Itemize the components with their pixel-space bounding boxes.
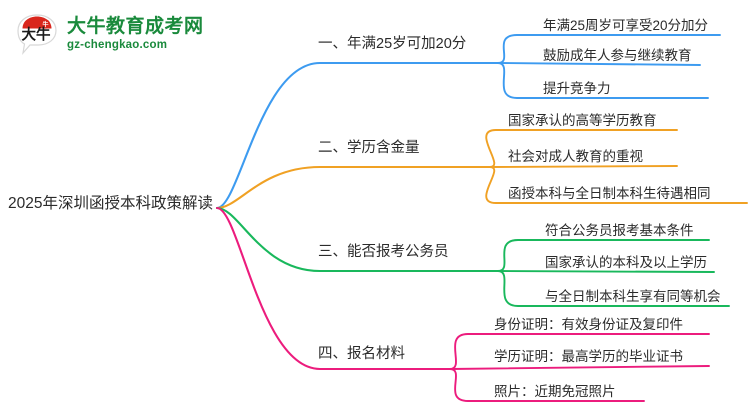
- logo-mark-icon: 牛 大牛: [14, 12, 60, 56]
- branch-node-label: 四、报名材料: [318, 345, 405, 363]
- logo-wordmark: 大牛教育成考网 gz-chengkao.com: [67, 17, 204, 51]
- branch-node-label: 三、能否报考公务员: [318, 243, 449, 261]
- connector-path: [490, 166, 677, 167]
- logo-bubble-icon: 牛 大牛: [14, 12, 60, 56]
- connector-path: [217, 208, 498, 271]
- leaf-node-label: 年满25周岁可享受20分加分: [543, 17, 708, 34]
- connector-path: [450, 366, 709, 369]
- site-logo: 牛 大牛 大牛教育成考网 gz-chengkao.com: [14, 8, 204, 60]
- root-node-label: 2025年深圳函授本科政策解读: [8, 194, 213, 214]
- leaf-node-label: 函授本科与全日制本科生待遇相同: [508, 185, 711, 202]
- leaf-node-label: 鼓励成年人参与继续教育: [543, 47, 692, 64]
- logo-title: 大牛教育成考网: [67, 17, 204, 37]
- leaf-node-label: 身份证明：有效身份证及复印件: [494, 316, 683, 333]
- leaf-node-label: 照片：近期免冠照片: [494, 383, 616, 400]
- leaf-node-label: 学历证明：最高学历的毕业证书: [494, 348, 683, 365]
- leaf-node-label: 提升竞争力: [543, 80, 611, 97]
- leaf-node-label: 国家承认的本科及以上学历: [545, 254, 707, 271]
- svg-text:大牛: 大牛: [22, 26, 51, 44]
- leaf-node-label: 国家承认的高等学历教育: [508, 112, 657, 129]
- leaf-node-label: 与全日制本科生享有同等机会: [545, 288, 721, 305]
- leaf-node-label: 社会对成人教育的重视: [508, 148, 643, 165]
- leaf-node-label: 符合公务员报考基本条件: [545, 222, 694, 239]
- connector-path: [498, 271, 714, 272]
- branch-node-label: 二、学历含金量: [318, 139, 420, 157]
- branch-node-label: 一、年满25岁可加20分: [318, 35, 466, 53]
- connector-path: [217, 63, 498, 208]
- logo-domain: gz-chengkao.com: [67, 39, 204, 51]
- connector-path: [217, 167, 490, 208]
